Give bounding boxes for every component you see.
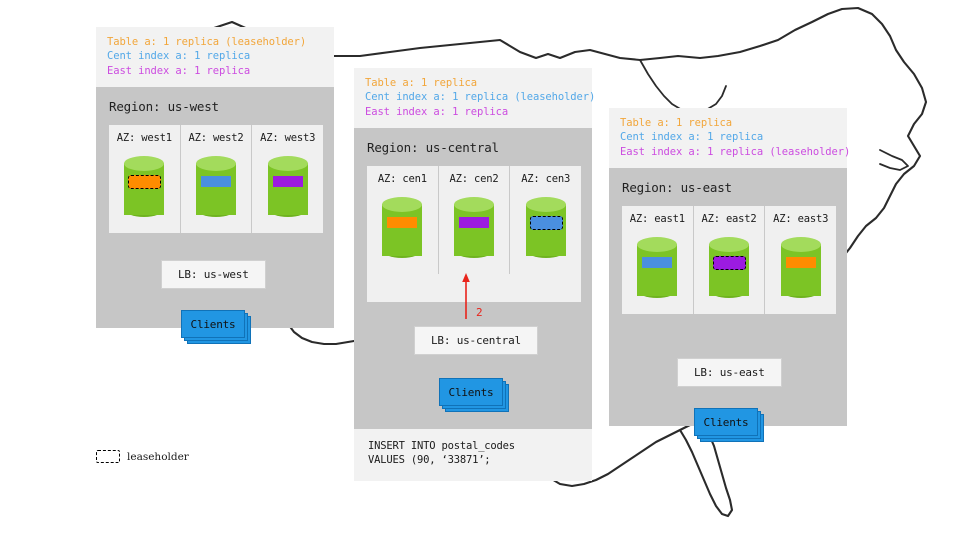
cylinder-body <box>124 163 164 215</box>
replica-chip-east <box>459 217 489 228</box>
az-label-west1: AZ: west1 <box>109 132 180 144</box>
replica-chip-cent <box>201 176 231 187</box>
node-cylinder-west1[interactable] <box>124 156 164 222</box>
az-label-west2: AZ: west2 <box>181 132 252 144</box>
cylinder-body <box>382 204 422 256</box>
replica-line-east: East index a: 1 replica <box>107 64 323 78</box>
load-balancer-us-west[interactable]: LB: us-west <box>161 260 266 289</box>
node-cylinder-west3[interactable] <box>268 156 308 222</box>
region-us-central: Table a: 1 replica Cent index a: 1 repli… <box>354 68 592 429</box>
replica-summary-us-east: Table a: 1 replica Cent index a: 1 repli… <box>609 108 847 168</box>
region-us-east: Table a: 1 replica Cent index a: 1 repli… <box>609 108 847 426</box>
az-cell-cen3[interactable]: AZ: cen3 <box>509 166 581 274</box>
replica-chip-cent-leaseholder <box>530 216 563 230</box>
node-cylinder-cen2[interactable] <box>454 197 494 263</box>
cylinder-body <box>637 244 677 296</box>
az-label-cen3: AZ: cen3 <box>510 173 581 185</box>
az-cell-east3[interactable]: AZ: east3 <box>764 206 836 314</box>
az-label-east2: AZ: east2 <box>694 213 765 225</box>
node-cylinder-west2[interactable] <box>196 156 236 222</box>
replica-line-table: Table a: 1 replica <box>365 76 581 90</box>
replica-chip-cent <box>642 257 672 268</box>
az-cell-west2[interactable]: AZ: west2 <box>180 125 252 233</box>
replica-chip-east <box>273 176 303 187</box>
cylinder-body <box>268 163 308 215</box>
arrow-label-2: 2 <box>476 306 483 319</box>
cylinder-top <box>526 197 566 212</box>
az-strip-us-central: AZ: cen1 AZ: cen2 <box>367 166 581 302</box>
sql-statement: INSERT INTO postal_codes VALUES (90, ‘33… <box>354 429 592 481</box>
az-cell-west3[interactable]: AZ: west3 <box>251 125 323 233</box>
node-cylinder-east2[interactable] <box>709 237 749 303</box>
replica-chip-table <box>786 257 816 268</box>
load-balancer-us-central[interactable]: LB: us-central <box>414 326 538 355</box>
clients-us-central[interactable]: Clients <box>439 378 501 404</box>
load-balancer-us-east[interactable]: LB: us-east <box>677 358 782 387</box>
az-cell-west1[interactable]: AZ: west1 <box>109 125 180 233</box>
replica-line-east: East index a: 1 replica <box>365 105 581 119</box>
cylinder-body <box>526 204 566 256</box>
cylinder-body <box>781 244 821 296</box>
cylinder-top <box>268 156 308 171</box>
cylinder-top <box>781 237 821 252</box>
replica-summary-us-central: Table a: 1 replica Cent index a: 1 repli… <box>354 68 592 128</box>
leaseholder-swatch-icon <box>96 450 120 463</box>
replica-line-table: Table a: 1 replica <box>620 116 836 130</box>
az-cell-cen2[interactable]: AZ: cen2 <box>438 166 510 274</box>
az-cell-cen1[interactable]: AZ: cen1 <box>367 166 438 274</box>
clients-label: Clients <box>439 378 503 406</box>
region-title-us-central: Region: us-central <box>354 128 592 166</box>
az-label-cen2: AZ: cen2 <box>439 173 510 185</box>
clients-us-east[interactable]: Clients <box>694 408 756 434</box>
node-cylinder-east1[interactable] <box>637 237 677 303</box>
replica-line-cent: Cent index a: 1 replica (leaseholder) <box>365 90 581 104</box>
node-cylinder-east3[interactable] <box>781 237 821 303</box>
legend: leaseholder <box>96 450 189 463</box>
region-body-us-west: Region: us-west AZ: west1 AZ: west2 <box>96 87 334 328</box>
diagram-canvas: Table a: 1 replica (leaseholder) Cent in… <box>0 0 960 540</box>
node-cylinder-cen1[interactable] <box>382 197 422 263</box>
clients-us-west[interactable]: Clients <box>181 310 243 336</box>
region-us-west: Table a: 1 replica (leaseholder) Cent in… <box>96 27 334 328</box>
replica-line-cent: Cent index a: 1 replica <box>107 49 323 63</box>
replica-chip-table-leaseholder <box>128 175 161 189</box>
cylinder-body <box>709 244 749 296</box>
az-cell-east2[interactable]: AZ: east2 <box>693 206 765 314</box>
replica-chip-table <box>387 217 417 228</box>
az-cell-east1[interactable]: AZ: east1 <box>622 206 693 314</box>
clients-label: Clients <box>694 408 758 436</box>
region-title-us-east: Region: us-east <box>609 168 847 206</box>
region-title-us-west: Region: us-west <box>96 87 334 125</box>
az-label-cen1: AZ: cen1 <box>367 173 438 185</box>
replica-chip-east-leaseholder <box>713 256 746 270</box>
az-label-west3: AZ: west3 <box>252 132 323 144</box>
az-label-east3: AZ: east3 <box>765 213 836 225</box>
replica-line-cent: Cent index a: 1 replica <box>620 130 836 144</box>
cylinder-body <box>454 204 494 256</box>
region-body-us-east: Region: us-east AZ: east1 AZ: east2 <box>609 168 847 426</box>
replica-line-east: East index a: 1 replica (leaseholder) <box>620 145 836 159</box>
az-strip-us-west: AZ: west1 AZ: west2 <box>109 125 323 233</box>
replica-summary-us-west: Table a: 1 replica (leaseholder) Cent in… <box>96 27 334 87</box>
az-strip-us-east: AZ: east1 AZ: east2 <box>622 206 836 314</box>
replica-line-table: Table a: 1 replica (leaseholder) <box>107 35 323 49</box>
az-label-east1: AZ: east1 <box>622 213 693 225</box>
legend-label: leaseholder <box>127 451 189 463</box>
clients-label: Clients <box>181 310 245 338</box>
region-body-us-central: Region: us-central AZ: cen1 AZ: cen2 <box>354 128 592 429</box>
cylinder-body <box>196 163 236 215</box>
node-cylinder-cen3[interactable] <box>526 197 566 263</box>
